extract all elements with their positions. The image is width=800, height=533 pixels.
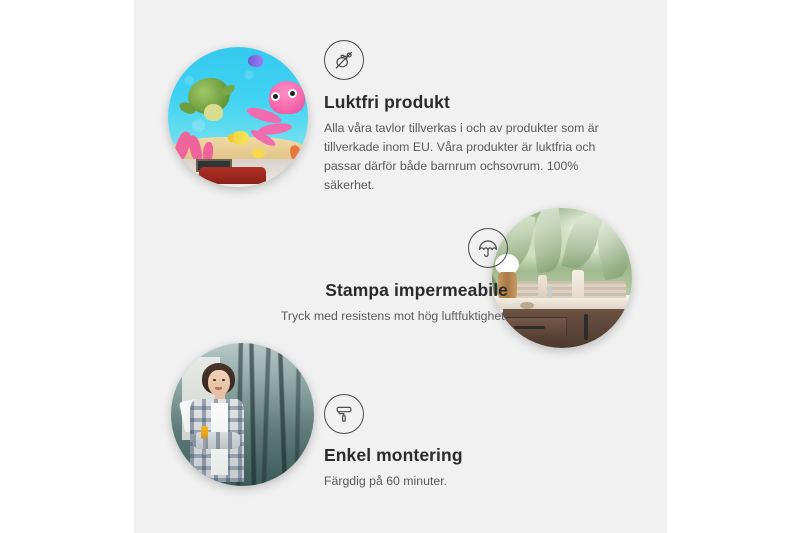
feature-title: Stampa impermeabile [192, 280, 508, 302]
woman-face [208, 370, 229, 396]
umbrella-icon [468, 228, 508, 268]
feature-easy-installation: Enkel montering Färgdig på 60 minuter. [324, 394, 624, 491]
fish-purple [248, 55, 263, 66]
turtle-head [204, 104, 222, 121]
fish-yellow-small [252, 148, 265, 158]
bathroom-bottle-small [538, 275, 546, 299]
bathroom-bottle-tall [572, 270, 585, 301]
promo-infographic: Luktfri produkt Alla våra tavlor tillver… [0, 0, 800, 533]
bathroom-door-handle [584, 314, 588, 339]
octopus-eye-left [271, 92, 280, 101]
feature-body: Tryck med resistens mot hög luftfuktighe… [192, 307, 508, 326]
woman-installer-forest-wallpaper-photo [171, 343, 314, 486]
mural-room-sofa [199, 167, 266, 184]
fish-yellow-striped [231, 131, 249, 145]
paint-roller-icon [324, 394, 364, 434]
content-panel: Luktfri produkt Alla våra tavlor tillver… [134, 0, 667, 533]
bathroom-tropical-wallpaper-photo [492, 208, 632, 348]
feature-title: Enkel montering [324, 445, 624, 467]
feature-title: Luktfri produkt [324, 92, 624, 114]
feature-odour-free: Luktfri produkt Alla våra tavlor tillver… [324, 40, 624, 195]
feature-body: Färgdig på 60 minuter. [324, 472, 624, 491]
no-fragrance-icon [324, 40, 364, 80]
bathroom-drawer-handle [514, 326, 545, 330]
underwater-kids-mural-photo [168, 47, 308, 187]
feature-body: Alla våra tavlor tillverkas i och av pro… [324, 119, 624, 195]
paint-roller-handle [203, 437, 205, 454]
feature-waterproof: Stampa impermeabile Tryck med resistens … [192, 228, 508, 326]
woman-crossed-arms [192, 432, 241, 449]
bathroom-soap-dish [520, 302, 534, 309]
octopus-eye-right [288, 89, 297, 98]
